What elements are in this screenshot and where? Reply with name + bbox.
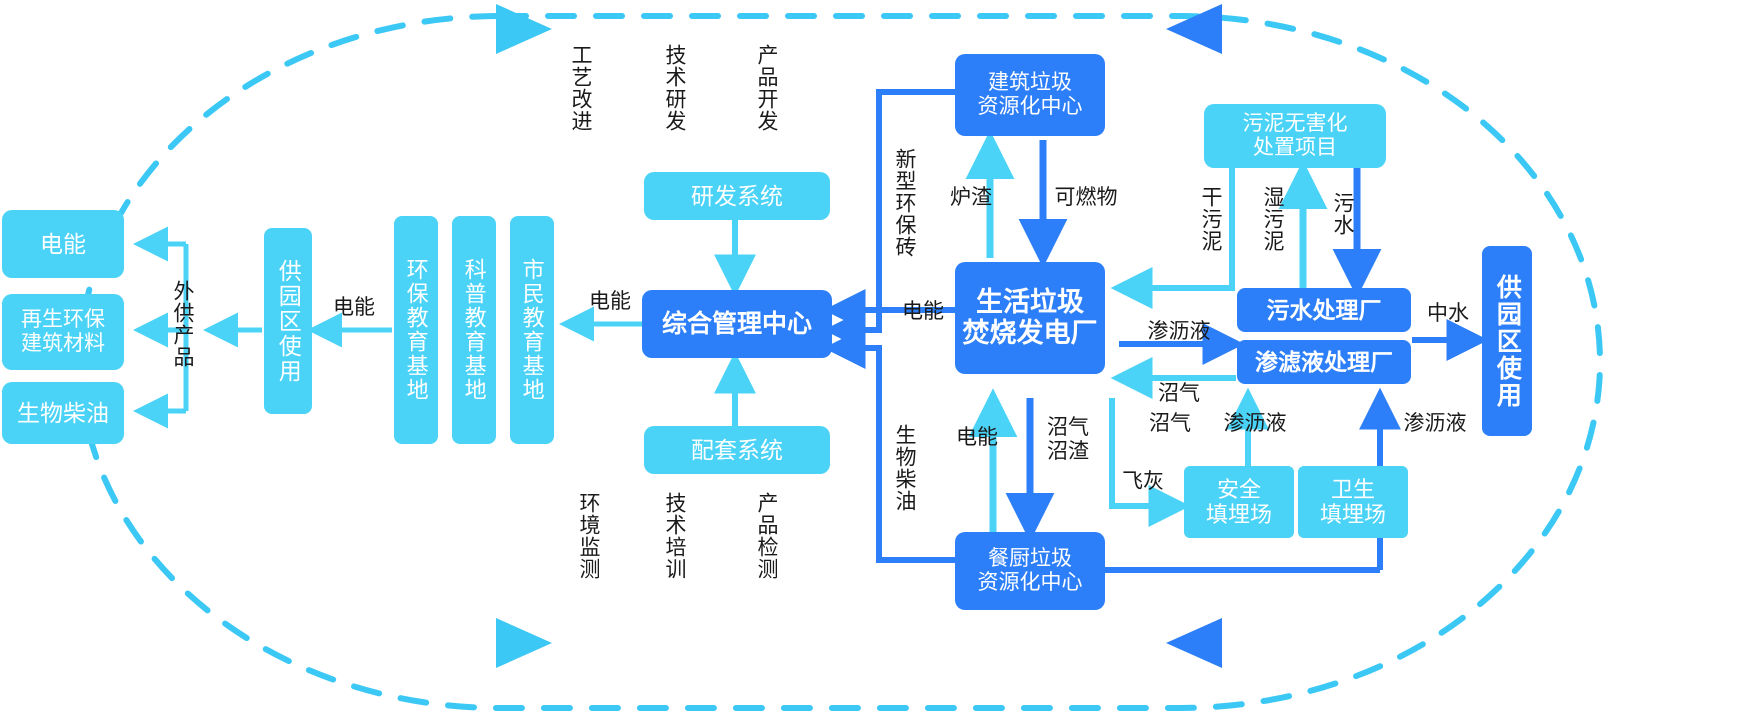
label-product-development: 产品开发 — [752, 44, 778, 132]
node-secure-landfill[interactable]: 安全 填埋场 — [1184, 466, 1294, 538]
label-product-testing: 产品检测 — [752, 492, 778, 580]
external-products-connectors — [140, 244, 262, 411]
label-power-from-kitchen: 电能 — [950, 426, 1004, 450]
node-citizen-edu-base[interactable]: 市民教育基地 — [510, 216, 554, 444]
top-right-arrow — [1166, 4, 1222, 54]
label-biogas: 沼气 — [1146, 382, 1212, 406]
diagram-canvas: 电能 再生环保 建筑材料 生物柴油 供园区使用 环保教育基地 科普教育基地 市民… — [0, 0, 1740, 724]
node-kitchen-waste-center[interactable]: 餐厨垃圾 资源化中心 — [955, 532, 1105, 610]
label-leachate-secure: 渗沥液 — [1206, 412, 1304, 436]
label-external-products: 外供产品 — [168, 280, 194, 368]
label-leachate-to-plant: 渗沥液 — [1130, 320, 1228, 344]
label-environmental-monitoring: 环境监测 — [574, 492, 600, 580]
label-fly-ash: 飞灰 — [1114, 470, 1172, 494]
label-process-improvement: 工艺改进 — [566, 44, 592, 132]
node-recycled-materials[interactable]: 再生环保 建筑材料 — [2, 294, 124, 370]
node-sludge-harmless-project[interactable]: 污泥无害化 处置项目 — [1204, 104, 1386, 168]
node-park-use-right[interactable]: 供园区使用 — [1482, 246, 1532, 436]
bottom-right-arrow — [1166, 618, 1222, 668]
top-left-arrow — [496, 4, 552, 54]
node-support-system[interactable]: 配套系统 — [644, 426, 830, 474]
label-leachate-sanitary: 渗沥液 — [1386, 412, 1484, 436]
label-new-eco-brick: 新型环保砖 — [890, 148, 916, 258]
node-management-center[interactable]: 综合管理中心 — [642, 290, 832, 358]
node-env-edu-base[interactable]: 环保教育基地 — [394, 216, 438, 444]
node-electric-energy[interactable]: 电能 — [2, 210, 124, 278]
label-biodiesel-flow: 生物柴油 — [890, 424, 916, 512]
node-science-edu-base[interactable]: 科普教育基地 — [452, 216, 496, 444]
label-wet-sludge: 湿污泥 — [1258, 186, 1284, 252]
label-biogas-residue: 沼气 沼渣 — [1040, 416, 1096, 463]
label-power-to-mgmt: 电能 — [578, 290, 642, 314]
node-rd-system[interactable]: 研发系统 — [644, 172, 830, 220]
label-combustibles: 可燃物 — [1046, 186, 1126, 210]
node-msw-incineration-plant[interactable]: 生活垃圾 焚烧发电厂 — [955, 262, 1105, 374]
label-power-to-park-left: 电能 — [322, 296, 386, 320]
label-biogas-top: 沼气 — [1140, 412, 1200, 436]
label-technology-rd: 技术研发 — [660, 44, 686, 132]
node-sanitary-landfill[interactable]: 卫生 填埋场 — [1298, 466, 1408, 538]
connector-layer — [0, 0, 1740, 724]
node-sewage-plant[interactable]: 污水处理厂 — [1237, 288, 1411, 332]
label-sewage: 污水 — [1328, 192, 1354, 236]
label-dry-sludge: 干污泥 — [1196, 186, 1222, 252]
label-power-from-plant: 电能 — [896, 300, 950, 324]
node-park-use-left[interactable]: 供园区使用 — [264, 228, 312, 414]
node-biodiesel[interactable]: 生物柴油 — [2, 382, 124, 444]
node-construction-waste-center[interactable]: 建筑垃圾 资源化中心 — [955, 54, 1105, 136]
bottom-left-arrow — [496, 618, 552, 668]
label-reclaimed-water: 中水 — [1418, 302, 1478, 326]
label-technical-training: 技术培训 — [660, 492, 686, 580]
label-slag: 炉渣 — [944, 186, 998, 210]
node-leachate-plant[interactable]: 渗滤液处理厂 — [1237, 340, 1411, 384]
